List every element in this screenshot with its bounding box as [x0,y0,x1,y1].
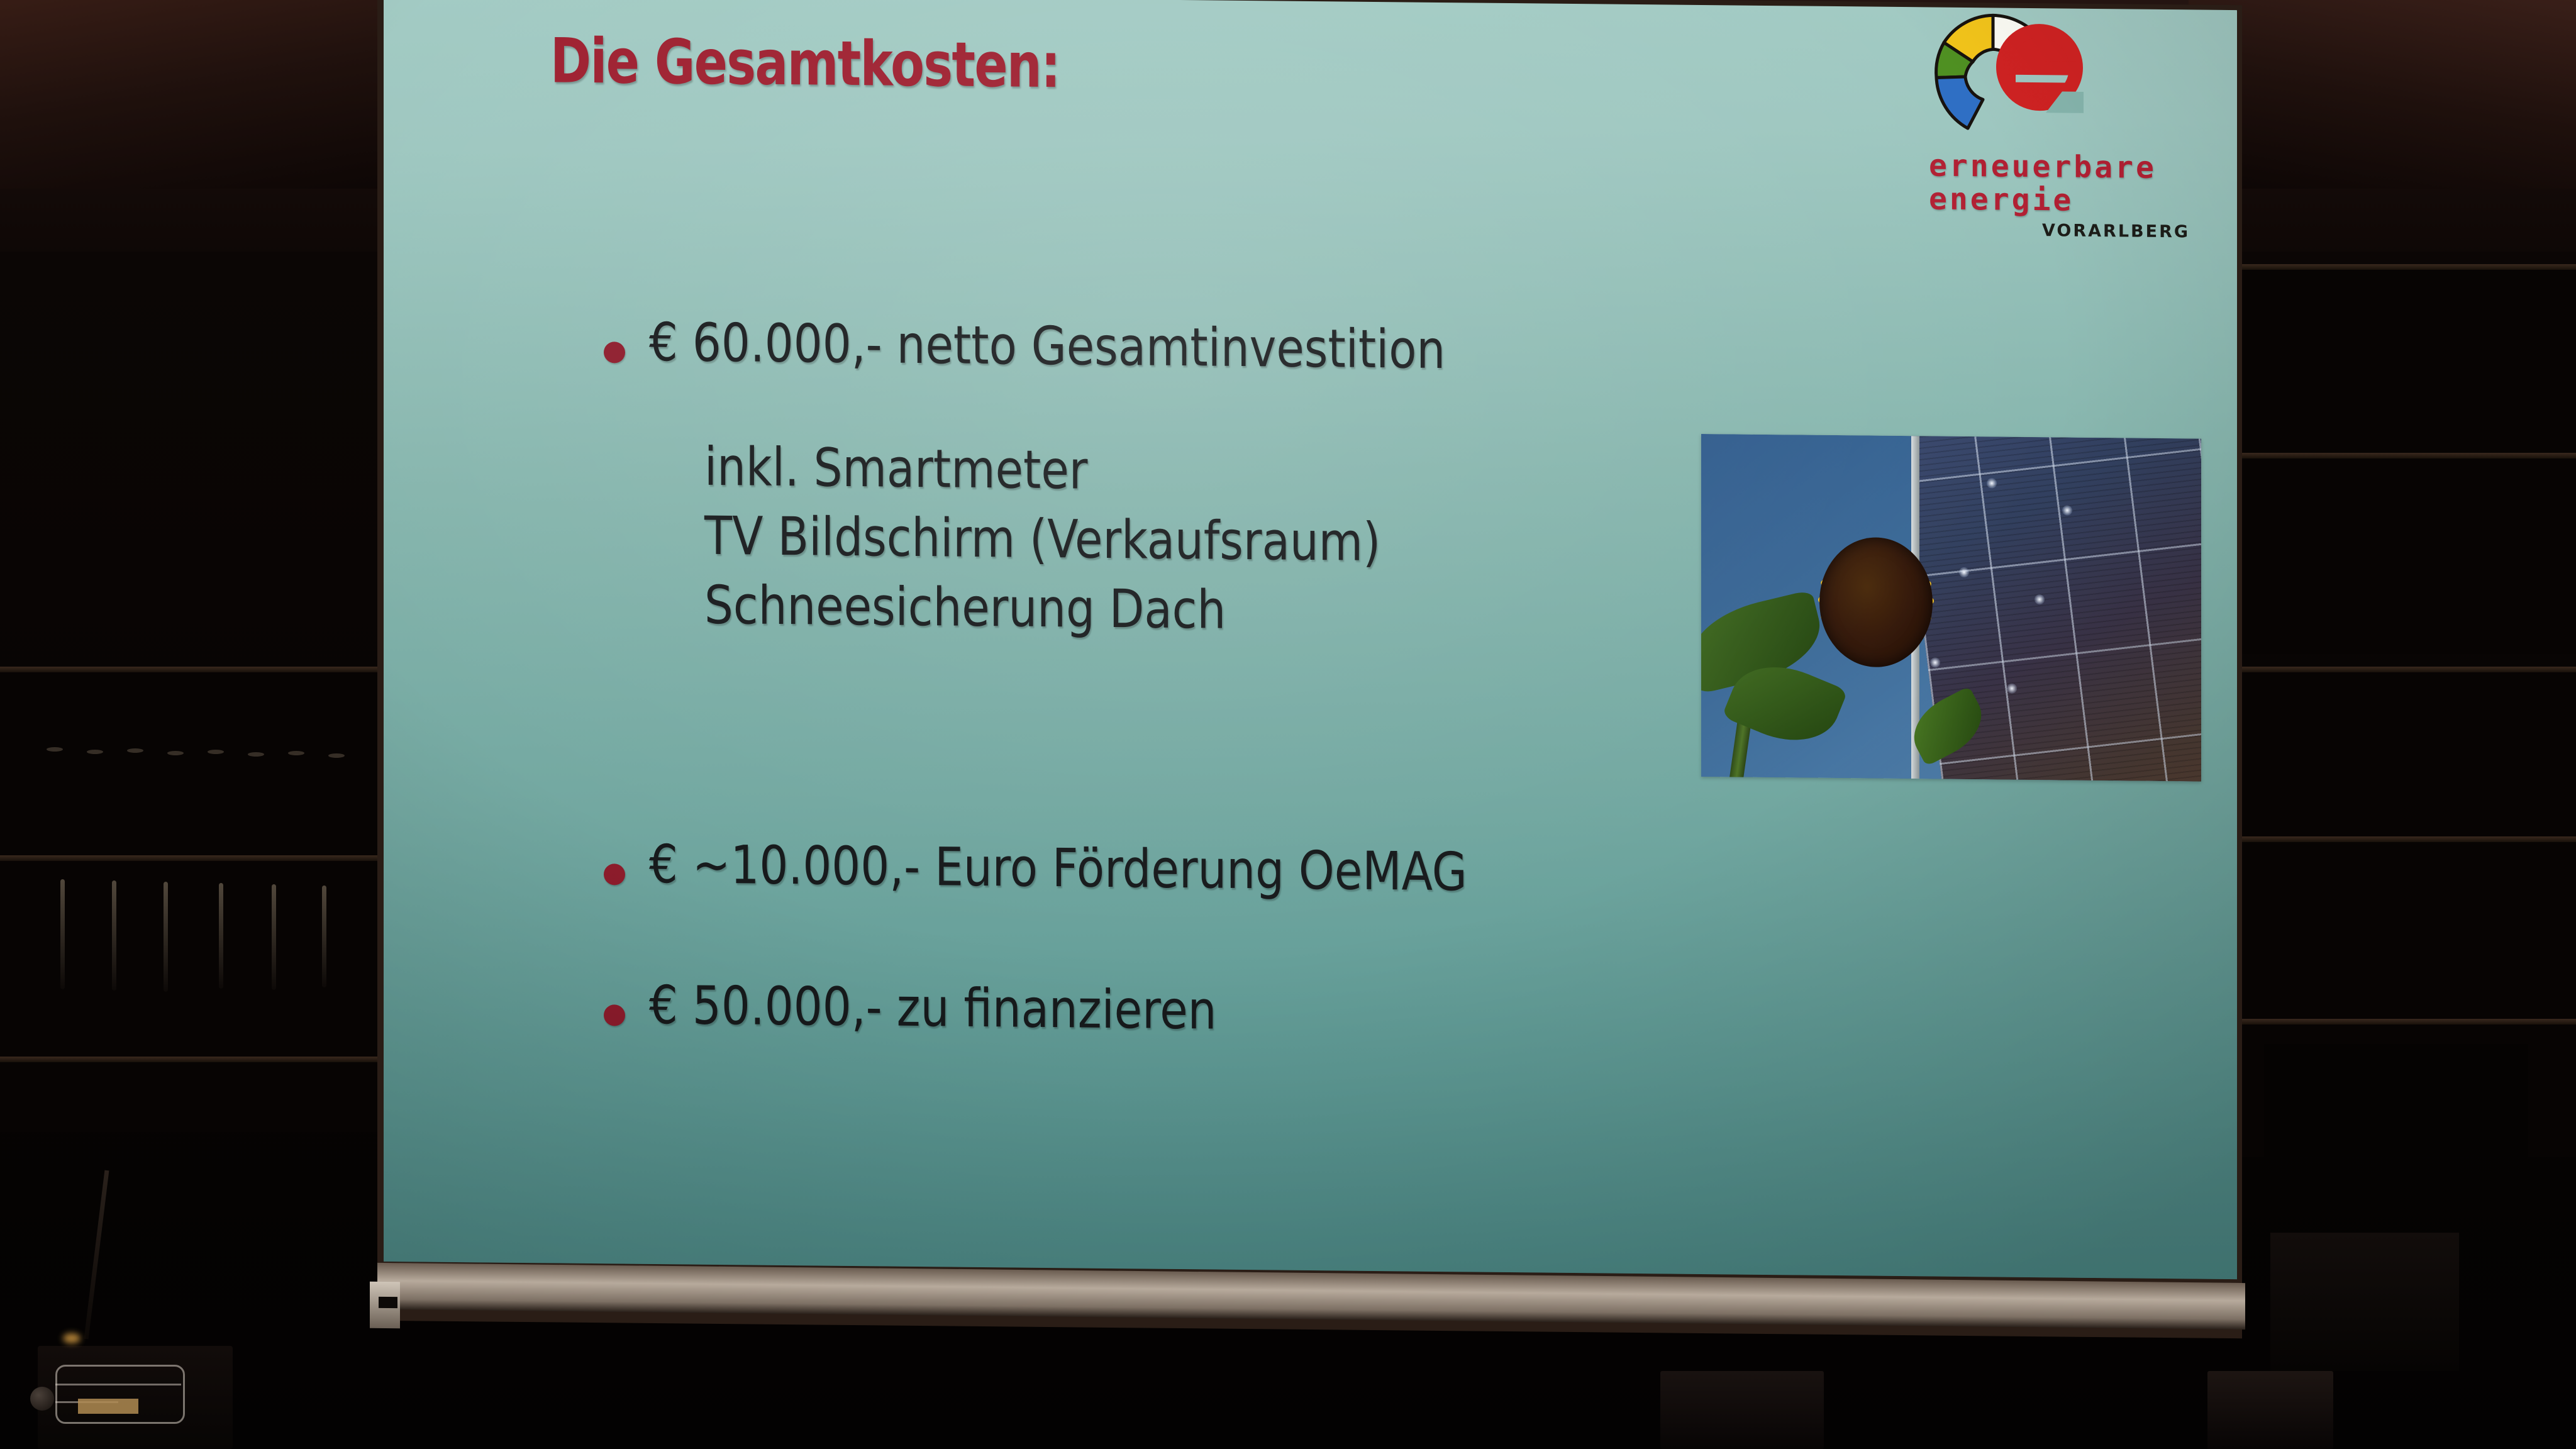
logo-wordmark-line1: erneuerbare [1929,149,2190,185]
presentation-slide: Die Gesamtkosten: € 60.000,- netto Gesam… [384,0,2237,1279]
sub-line-3: Schneesicherung Dach [704,574,1226,641]
bullet-dot-icon [604,341,625,363]
slide-title: Die Gesamtkosten: [550,25,1060,102]
shelving-right [2239,667,2576,1157]
bullet-dot-icon [604,1004,625,1026]
wood-grain-left [0,0,440,189]
panel-highlight [2062,505,2072,515]
sub-line-2: TV Bildschirm (Verkaufsraum) [704,505,1380,573]
bullet-label-1: € 60.000,- netto Gesamtinvestition [649,314,1445,377]
av-equipment-center [1660,1371,1824,1449]
panel-amber-strip [78,1399,138,1414]
shelving-far-right-upper [2239,264,2576,654]
logo-wordmark-sub: VORARLBERG [2042,221,2190,241]
av-equipment-panel [55,1365,185,1424]
equipment-indicator-light [63,1333,80,1343]
bullet-item-1: € 60.000,- netto Gesamtinvestition [604,314,1575,379]
sunflower-and-solar-panel-photo [1701,434,2201,782]
wood-grain-right [2189,0,2576,189]
dark-presentation-room: Die Gesamtkosten: € 60.000,- netto Gesam… [0,0,2576,1449]
sunflower-bloom [1757,474,1996,728]
bullet-label-2: € ~10.000,- Euro Förderung OeMAG [649,836,1467,900]
panel-highlight [2035,594,2045,604]
bullet-label-3: € 50.000,- zu finanzieren [649,977,1216,1038]
projection-screen: Die Gesamtkosten: € 60.000,- netto Gesam… [377,0,2242,1370]
panel-divider-1 [55,1384,181,1385]
equipment-knob[interactable] [30,1387,54,1411]
screen-brand-label [379,1297,397,1308]
erneuerbare-energie-vorarlberg-logo: erneuerbare energie VORARLBERG [1928,6,2192,257]
logo-wordmark-line2: energie [1929,182,2190,218]
cabinet-right-lower [2270,1233,2459,1371]
logo-arc-icon [1928,6,2192,153]
sunflower-center-disc [1819,537,1933,668]
bullet-item-3: € 50.000,- zu finanzieren [604,977,1309,1039]
logo-wordmark: erneuerbare energie VORARLBERG [1929,149,2190,241]
panel-highlight [2007,684,2017,694]
av-equipment-right [2207,1371,2333,1449]
logo-e-glyph [1998,29,2084,113]
bullet-item-2: € ~10.000,- Euro Förderung OeMAG [604,836,1600,901]
sub-line-1: inkl. Smartmeter [704,436,1087,501]
shelving-left [0,667,377,1132]
bullet-dot-icon [604,863,625,885]
